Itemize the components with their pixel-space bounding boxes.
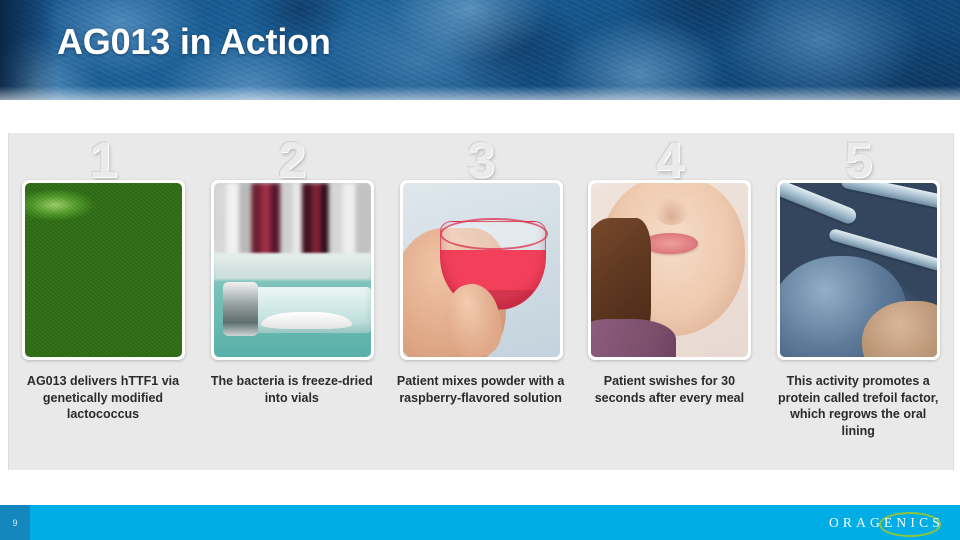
steps-row: 1 AG013 delivers hTTF1 via genetically m… — [9, 133, 953, 470]
step-caption-3: Patient mixes powder with a raspberry-fl… — [395, 373, 567, 406]
vial-powder — [261, 312, 352, 329]
hand-holding-cup-photo — [400, 180, 563, 360]
page-title: AG013 in Action — [57, 21, 331, 63]
vial-cap — [223, 282, 258, 336]
step-item-2: 2 The bacteria is freeze-dried into vial… — [198, 133, 387, 470]
filament-shape-2 — [840, 183, 937, 213]
step-item-4: 4 Patient swishes for 30 seconds after e… — [575, 133, 764, 470]
slide-number: 9 — [12, 518, 17, 528]
green-bacteria-photo — [22, 180, 185, 360]
step-caption-1: AG013 delivers hTTF1 via genetically mod… — [17, 373, 189, 423]
step-number-3: 3 — [387, 135, 576, 185]
step-caption-4: Patient swishes for 30 seconds after eve… — [583, 373, 755, 406]
oral-lining-cells-photo — [777, 180, 940, 360]
face-image — [591, 183, 748, 357]
step-item-3: 3 Patient mixes powder with a raspberry-… — [387, 133, 576, 470]
shirt-shape — [591, 319, 676, 357]
steps-panel: 1 AG013 delivers hTTF1 via genetically m… — [8, 133, 954, 470]
step-caption-5: This activity promotes a protein called … — [772, 373, 944, 439]
logo-text: ORAGENICS — [829, 515, 944, 531]
oragenics-logo: ORAGENICS — [829, 505, 944, 540]
lab-shelf — [214, 253, 371, 281]
patient-swishing-photo — [588, 180, 751, 360]
cup-image — [403, 183, 560, 357]
filament-shape-1 — [780, 183, 858, 226]
nose-shape — [654, 197, 689, 225]
header-bottom-fade — [0, 86, 960, 100]
slide-number-box: 9 — [0, 505, 30, 540]
freeze-dried-vial-photo — [211, 180, 374, 360]
step-number-4: 4 — [575, 135, 764, 185]
slide-header-banner: AG013 in Action — [0, 0, 960, 100]
header-left-shade — [0, 0, 58, 100]
step-item-1: 1 AG013 delivers hTTF1 via genetically m… — [9, 133, 198, 470]
presentation-slide: AG013 in Action 1 AG013 delivers hTTF1 v… — [0, 0, 960, 540]
green-bacteria-image — [25, 183, 182, 357]
step-caption-2: The bacteria is freeze-dried into vials — [206, 373, 378, 406]
step-number-1: 1 — [9, 135, 198, 185]
cup-rim — [440, 218, 548, 250]
lab-background — [214, 183, 371, 256]
step-number-5: 5 — [764, 135, 953, 185]
step-item-5: 5 This activity promotes a protein calle… — [764, 133, 953, 470]
vial-image — [214, 183, 371, 357]
step-number-2: 2 — [198, 135, 387, 185]
slide-footer: 9 ORAGENICS — [0, 505, 960, 540]
cells-image — [780, 183, 937, 357]
